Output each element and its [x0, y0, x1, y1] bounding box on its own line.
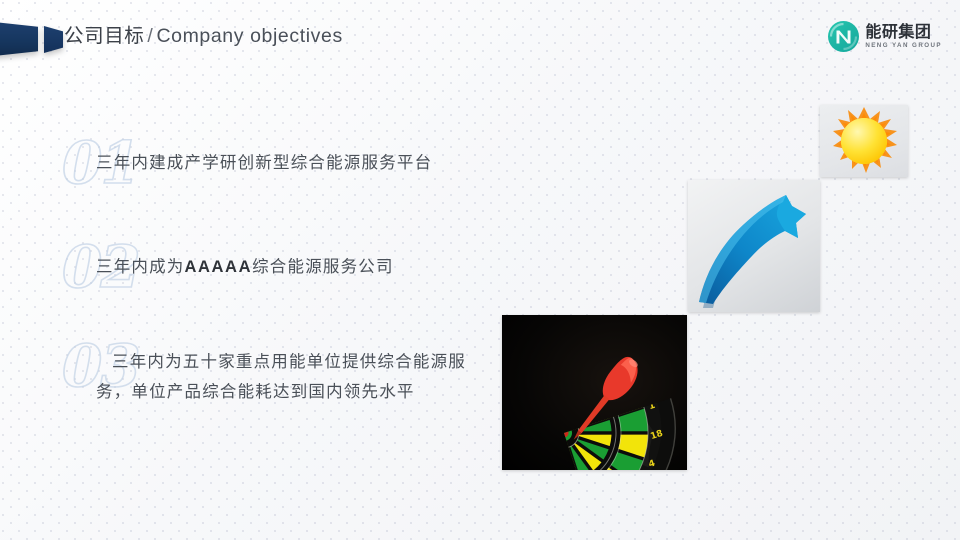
upward-arrow-photo [688, 180, 820, 312]
objective-item-1: 01 三年内建成产学研创新型综合能源服务平台 [62, 134, 562, 204]
slide-header: 公司目标/Company objectives 能研集团 NENG YAN GR… [0, 0, 960, 72]
objective-item-2: 02 三年内成为AAAAA综合能源服务公司 [62, 238, 562, 308]
objective-text-2-after: 综合能源服务公司 [252, 258, 394, 276]
objective-text-1: 三年内建成产学研创新型综合能源服务平台 [96, 148, 566, 178]
page-title-en: Company objectives [156, 25, 342, 47]
nengyan-circle-logo-icon [828, 21, 859, 52]
objective-text-3: 三年内为五十家重点用能单位提供综合能源服务，单位产品综合能耗达到国内领先水平 [96, 347, 496, 407]
page-title-cn: 公司目标 [64, 25, 144, 47]
company-logo: 能研集团 NENG YAN GROUP [828, 21, 942, 52]
logo-name-cn: 能研集团 [865, 24, 942, 40]
objective-text-1-main: 三年内建成产学研创新型综合能源服务平台 [96, 154, 432, 172]
page-title: 公司目标/Company objectives [64, 22, 343, 50]
objective-text-3-main: 三年内为五十家重点用能单位提供综合能源服务，单位产品综合能耗达到国内领先水平 [96, 353, 466, 401]
banner-shape-small [44, 26, 63, 53]
header-banner-decoration [0, 22, 62, 56]
logo-name-en: NENG YAN GROUP [865, 43, 942, 49]
objective-text-2: 三年内成为AAAAA综合能源服务公司 [96, 252, 566, 282]
slide-canvas: 公司目标/Company objectives 能研集团 NENG YAN GR… [0, 0, 960, 540]
logo-wordmark: 能研集团 NENG YAN GROUP [865, 24, 942, 49]
dartboard-photo: 1 18 4 13 6 10 15 2 17 3 19 7 16 8 11 14 [502, 315, 687, 470]
banner-shape-large [0, 22, 38, 56]
page-title-separator: / [144, 25, 156, 47]
objective-item-3: 03 三年内为五十家重点用能单位提供综合能源服务，单位产品综合能耗达到国内领先水… [62, 337, 532, 447]
objective-text-2-emphasis: AAAAA [185, 258, 253, 276]
objective-text-2-before: 三年内成为 [96, 258, 185, 276]
sun-photo [820, 105, 908, 177]
